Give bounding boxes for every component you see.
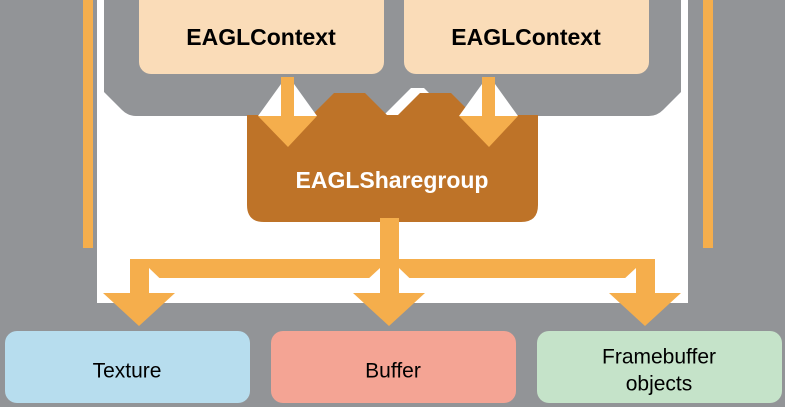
node-buffer-label: Buffer bbox=[365, 360, 421, 383]
rail-left-vertical bbox=[83, 0, 93, 248]
node-context-left-label: EAGLContext bbox=[186, 24, 336, 50]
bus-stem bbox=[380, 218, 399, 266]
diagram-canvas: EAGLContext EAGLContext EAGLSharegroup T… bbox=[0, 0, 785, 407]
node-texture-label: Texture bbox=[93, 360, 162, 383]
node-framebuffer-label-line1: Framebuffer bbox=[602, 346, 716, 369]
eagl-sharegroup-diagram: EAGLContext EAGLContext EAGLSharegroup T… bbox=[0, 0, 785, 407]
node-context-right-label: EAGLContext bbox=[451, 24, 601, 50]
rail-right-vertical bbox=[703, 0, 713, 248]
node-framebuffer-label-line2: objects bbox=[626, 373, 693, 396]
node-sharegroup-label: EAGLSharegroup bbox=[296, 167, 489, 193]
